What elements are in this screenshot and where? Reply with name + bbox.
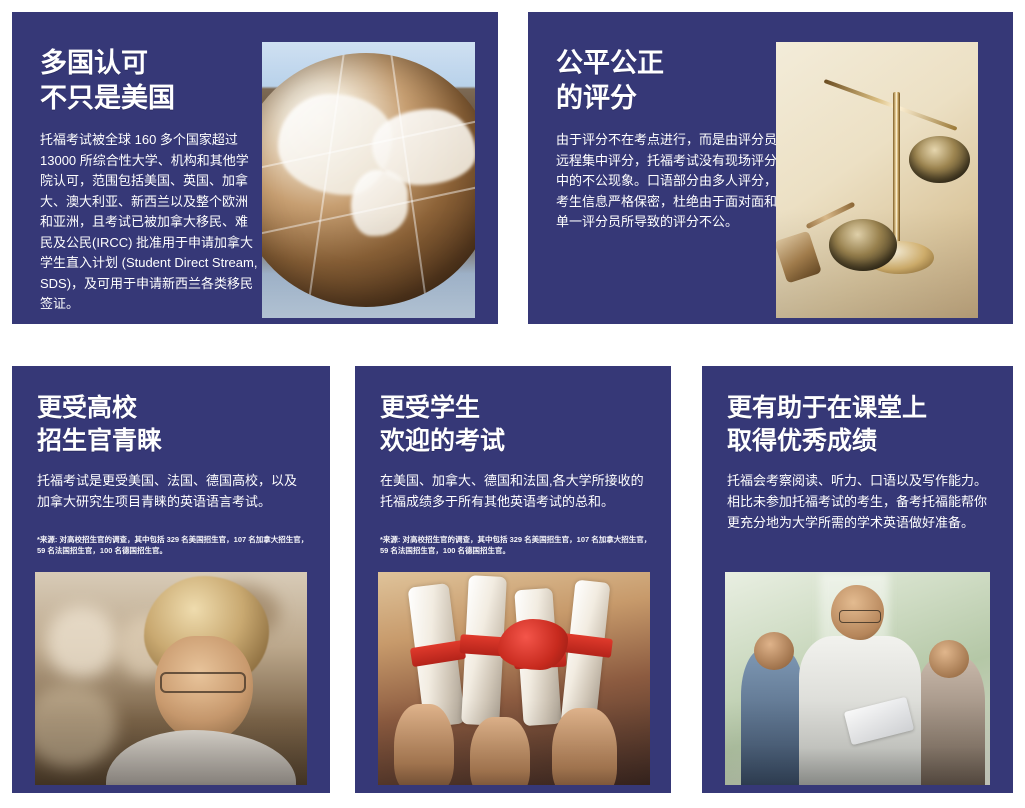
card-footnote: *来源: 对高校招生官的调查，其中包括 329 名美国招生官，107 名加拿大招… — [37, 534, 309, 556]
cards-board: 多国认可 不只是美国 托福考试被全球 160 多个国家超过 13000 所综合性… — [0, 0, 1025, 808]
card-text-column: 更有助于在课堂上 取得优秀成绩 托福会考察阅读、听力、口语以及写作能力。 相比未… — [727, 392, 995, 533]
card-text-column: 公平公正 的评分 由于评分不在考点进行，而是由评分员远程集中评分，托福考试没有现… — [556, 46, 784, 233]
card-heading: 多国认可 不只是美国 — [40, 46, 258, 116]
graduation-diplomas-photo — [378, 572, 650, 785]
card-body: 托福会考察阅读、听力、口语以及写作能力。 相比未参加托福考试的考生，备考托福能帮… — [727, 470, 995, 533]
card-body: 托福考试被全球 160 多个国家超过 13000 所综合性大学、机构和其他学院认… — [40, 130, 258, 315]
card-text-column: 更受高校 招生官青睐 托福考试是更受美国、法国、德国高校，以及加拿大研究生项目青… — [37, 392, 309, 556]
card-classroom: 更有助于在课堂上 取得优秀成绩 托福会考察阅读、听力、口语以及写作能力。 相比未… — [702, 366, 1013, 793]
card-body: 由于评分不在考点进行，而是由评分员远程集中评分，托福考试没有现场评分中的不公现象… — [556, 130, 784, 233]
card-students: 更受学生 欢迎的考试 在美国、加拿大、德国和法国,各大学所接收的托福成绩多于所有… — [355, 366, 671, 793]
card-fair-scoring: 公平公正 的评分 由于评分不在考点进行，而是由评分员远程集中评分，托福考试没有现… — [528, 12, 1013, 324]
card-heading: 更受学生 欢迎的考试 — [380, 392, 652, 458]
card-text-column: 多国认可 不只是美国 托福考试被全球 160 多个国家超过 13000 所综合性… — [40, 46, 258, 315]
card-body: 托福考试是更受美国、法国、德国高校，以及加拿大研究生项目青睐的英语语言考试。 — [37, 470, 309, 512]
card-heading: 更有助于在课堂上 取得优秀成绩 — [727, 392, 995, 458]
teacher-with-students-photo — [725, 572, 990, 785]
card-footnote: *来源: 对高校招生官的调查，其中包括 329 名美国招生官，107 名加拿大招… — [380, 534, 652, 556]
card-multi-country: 多国认可 不只是美国 托福考试被全球 160 多个国家超过 13000 所综合性… — [12, 12, 498, 324]
scales-of-justice-photo — [776, 42, 978, 318]
card-text-column: 更受学生 欢迎的考试 在美国、加拿大、德国和法国,各大学所接收的托福成绩多于所有… — [380, 392, 652, 556]
card-heading: 更受高校 招生官青睐 — [37, 392, 309, 458]
card-heading: 公平公正 的评分 — [556, 46, 784, 116]
lecture-hall-student-photo — [35, 572, 307, 785]
card-admissions: 更受高校 招生官青睐 托福考试是更受美国、法国、德国高校，以及加拿大研究生项目青… — [12, 366, 330, 793]
globe-photo — [262, 42, 475, 318]
card-body: 在美国、加拿大、德国和法国,各大学所接收的托福成绩多于所有其他英语考试的总和。 — [380, 470, 652, 512]
